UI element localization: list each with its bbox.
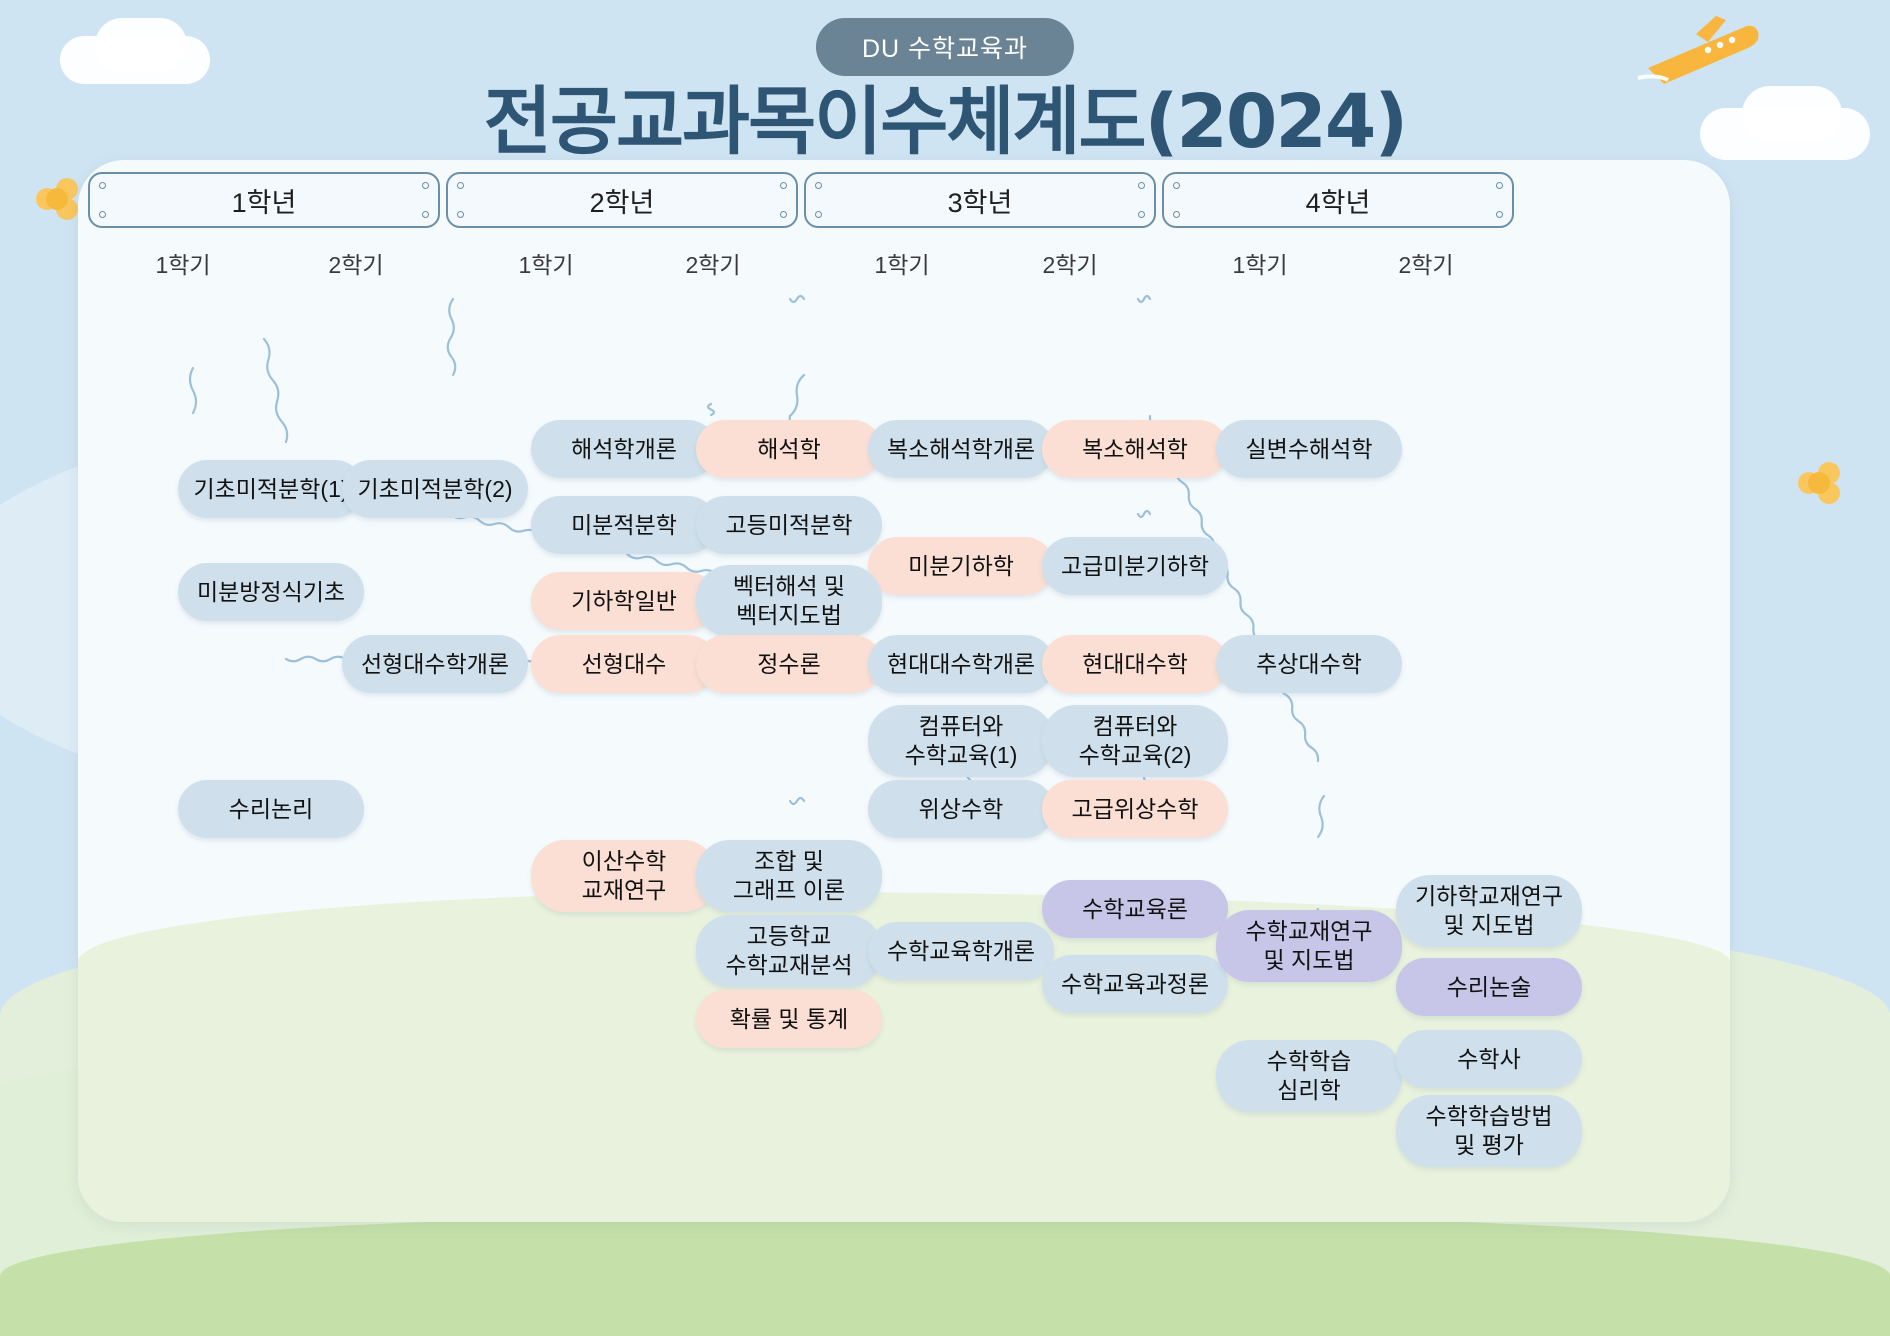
semester-label: 1학기 [518, 246, 573, 280]
flower-icon [1798, 462, 1844, 508]
course-node[interactable]: 해석학 [696, 420, 882, 478]
course-node[interactable]: 수학교육론 [1042, 880, 1228, 938]
course-label: 고급미분기하학 [1061, 552, 1209, 581]
course-connector [190, 368, 196, 413]
semester-label: 2학기 [1042, 246, 1097, 280]
course-label: 정수론 [757, 650, 820, 679]
course-connector [264, 339, 287, 442]
course-label: 해석학개론 [571, 435, 677, 464]
course-connector [448, 339, 456, 375]
course-node[interactable]: 수학학습심리학 [1216, 1040, 1402, 1112]
course-connector [1318, 796, 1324, 837]
course-label: 수학교육과정론 [1061, 970, 1209, 999]
year-box-4: 4학년 [1162, 172, 1514, 228]
course-node[interactable]: 위상수학 [868, 780, 1054, 838]
year-box-2: 2학년 [446, 172, 798, 228]
course-label: 수리논술 [1447, 973, 1532, 1002]
course-label: 실변수해석학 [1246, 435, 1373, 464]
course-node[interactable]: 고등미적분학 [696, 496, 882, 554]
semester-label: 1학기 [874, 246, 929, 280]
course-node[interactable]: 수리논리 [178, 780, 364, 838]
course-node[interactable]: 현대대수학 [1042, 635, 1228, 693]
course-label: 수학교육론 [1082, 895, 1188, 924]
course-node[interactable]: 선형대수 [531, 635, 717, 693]
course-node[interactable]: 컴퓨터와수학교육(2) [1042, 705, 1228, 777]
course-label: 컴퓨터와수학교육(2) [1079, 712, 1192, 769]
course-connector [1138, 296, 1150, 302]
course-node[interactable]: 벡터해석 및벡터지도법 [696, 565, 882, 637]
airplane-icon [1630, 6, 1770, 96]
course-label: 고등미적분학 [726, 511, 853, 540]
course-label: 복소해석학 [1082, 435, 1188, 464]
course-node[interactable]: 추상대수학 [1216, 635, 1402, 693]
semester-header-row: 1학기 2학기 1학기 2학기 1학기 2학기 1학기 2학기 [78, 246, 1730, 278]
course-node[interactable]: 정수론 [696, 635, 882, 693]
semester-label: 2학기 [328, 246, 383, 280]
course-node[interactable]: 미분방정식기초 [178, 563, 364, 621]
course-label: 수학교재연구및 지도법 [1246, 917, 1373, 974]
course-node[interactable]: 고급위상수학 [1042, 780, 1228, 838]
course-label: 컴퓨터와수학교육(1) [905, 712, 1018, 769]
course-label: 고등학교수학교재분석 [726, 922, 853, 979]
course-node[interactable]: 해석학개론 [531, 420, 717, 478]
course-node[interactable]: 확률 및 통계 [696, 990, 882, 1048]
course-label: 수학학습방법및 평가 [1426, 1102, 1553, 1159]
course-label: 기하학일반 [571, 587, 677, 616]
course-label: 수학학습심리학 [1267, 1047, 1352, 1104]
course-node[interactable]: 수학교육과정론 [1042, 955, 1228, 1013]
course-node[interactable]: 수학학습방법및 평가 [1396, 1095, 1582, 1167]
course-node[interactable]: 고급미분기하학 [1042, 537, 1228, 595]
course-node[interactable]: 고등학교수학교재분석 [696, 915, 882, 987]
course-label: 고급위상수학 [1072, 795, 1199, 824]
course-label: 조합 및그래프 이론 [733, 847, 845, 904]
course-node[interactable]: 기초미적분학(1) [178, 460, 364, 518]
course-node[interactable]: 기초미적분학(2) [342, 460, 528, 518]
semester-label: 2학기 [1398, 246, 1453, 280]
year-label: 4학년 [1306, 181, 1371, 220]
course-node[interactable]: 복소해석학 [1042, 420, 1228, 478]
course-label: 위상수학 [919, 795, 1004, 824]
course-label: 미분방정식기초 [197, 578, 345, 607]
course-connector [708, 404, 714, 415]
course-node[interactable]: 조합 및그래프 이론 [696, 840, 882, 912]
course-connector [790, 375, 804, 416]
course-label: 기하학교재연구및 지도법 [1415, 882, 1563, 939]
course-label: 미분적분학 [571, 511, 677, 540]
course-node[interactable]: 수학교재연구및 지도법 [1216, 910, 1402, 982]
year-label: 2학년 [590, 181, 655, 220]
course-connector [1138, 511, 1150, 517]
page-title: 전공교과목이수체계도(2024) [484, 62, 1406, 169]
year-box-3: 3학년 [804, 172, 1156, 228]
course-node[interactable]: 미분적분학 [531, 496, 717, 554]
course-label: 확률 및 통계 [730, 1005, 849, 1034]
course-node[interactable]: 현대대수학개론 [868, 635, 1054, 693]
semester-label: 2학기 [685, 246, 740, 280]
year-header-row: 1학년 2학년 3학년 4학년 [88, 172, 1720, 228]
course-connector [449, 299, 454, 339]
year-label: 3학년 [948, 181, 1013, 220]
course-label: 기초미적분학(2) [357, 475, 512, 504]
grass-strip [0, 1216, 1890, 1336]
course-node[interactable]: 기하학일반 [531, 572, 717, 630]
course-label: 현대대수학개론 [887, 650, 1035, 679]
course-label: 기초미적분학(1) [193, 475, 348, 504]
course-node[interactable]: 수리논술 [1396, 958, 1582, 1016]
semester-label: 1학기 [155, 246, 210, 280]
course-label: 수학사 [1457, 1045, 1520, 1074]
course-node[interactable]: 기하학교재연구및 지도법 [1396, 875, 1582, 947]
course-node[interactable]: 미분기하학 [868, 537, 1054, 595]
year-label: 1학년 [232, 181, 297, 220]
course-node[interactable]: 실변수해석학 [1216, 420, 1402, 478]
course-label: 추상대수학 [1256, 650, 1362, 679]
course-label: 해석학 [757, 435, 820, 464]
course-connector [790, 798, 804, 804]
curriculum-card: 1학년 2학년 3학년 4학년 1학기 2학기 1학기 2학기 1학기 2학기 … [78, 160, 1730, 1222]
course-label: 복소해석학개론 [887, 435, 1035, 464]
course-label: 미분기하학 [908, 552, 1014, 581]
course-node[interactable]: 수학교육학개론 [868, 922, 1054, 980]
course-label: 수리논리 [229, 795, 314, 824]
course-label: 이산수학교재연구 [582, 847, 667, 904]
year-box-1: 1학년 [88, 172, 440, 228]
course-label: 선형대수학개론 [361, 650, 509, 679]
course-label: 선형대수 [582, 650, 667, 679]
semester-label: 1학기 [1232, 246, 1287, 280]
course-label: 수학교육학개론 [887, 937, 1035, 966]
course-node[interactable]: 복소해석학개론 [868, 420, 1054, 478]
course-node[interactable]: 컴퓨터와수학교육(1) [868, 705, 1054, 777]
course-label: 현대대수학 [1082, 650, 1188, 679]
course-label: 벡터해석 및벡터지도법 [733, 572, 845, 629]
cloud-icon [95, 18, 187, 72]
flower-icon [36, 178, 82, 224]
course-node[interactable]: 선형대수학개론 [342, 635, 528, 693]
course-node[interactable]: 수학사 [1396, 1030, 1582, 1088]
course-node[interactable]: 이산수학교재연구 [531, 840, 717, 912]
course-connector [790, 296, 804, 302]
